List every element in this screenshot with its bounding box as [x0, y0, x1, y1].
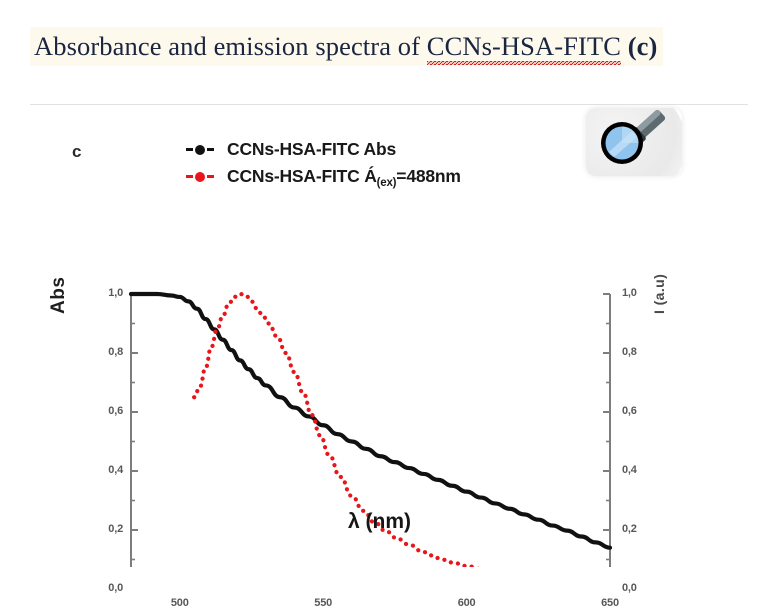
title-prefix: Absorbance and emission spectra of — [34, 31, 427, 61]
y-tick-left-3: 0,6 — [91, 405, 123, 417]
x-tick-1: 550 — [303, 597, 343, 609]
y-tick-left-0: 0,0 — [91, 582, 123, 594]
y-tick-right-4: 0,8 — [622, 346, 654, 358]
y-tick-left-1: 0,2 — [91, 523, 123, 535]
page-title: Absorbance and emission spectra of CCNs-… — [30, 27, 663, 66]
header-divider — [30, 104, 748, 105]
title-misspelled-term: CCNs-HSA-FITC — [427, 31, 621, 62]
y-tick-left-5: 1,0 — [91, 287, 123, 299]
y-tick-right-0: 0,0 — [622, 582, 654, 594]
y-tick-right-3: 0,6 — [622, 405, 654, 417]
y-tick-left-2: 0,4 — [91, 464, 123, 476]
y-tick-right-5: 1,0 — [622, 287, 654, 299]
x-tick-2: 600 — [447, 597, 487, 609]
spectra-plot — [0, 106, 759, 567]
title-suffix: (c) — [621, 31, 657, 61]
y-tick-right-2: 0,4 — [622, 464, 654, 476]
y-tick-right-1: 0,2 — [622, 523, 654, 535]
slide-title-bar: Absorbance and emission spectra of CCNs-… — [0, 0, 759, 92]
x-tick-0: 500 — [160, 597, 200, 609]
figure-container: c CCNs-HSA-FITC Abs CCNs-HSA-FITC Á(ex)=… — [0, 106, 759, 567]
plot-area: Abs I (a.u) λ (nm) 0,00,00,20,20,40,40,6… — [0, 106, 759, 567]
y-axis-label-left: Abs — [48, 277, 70, 314]
x-tick-3: 650 — [590, 597, 630, 609]
y-tick-left-4: 0,8 — [91, 346, 123, 358]
